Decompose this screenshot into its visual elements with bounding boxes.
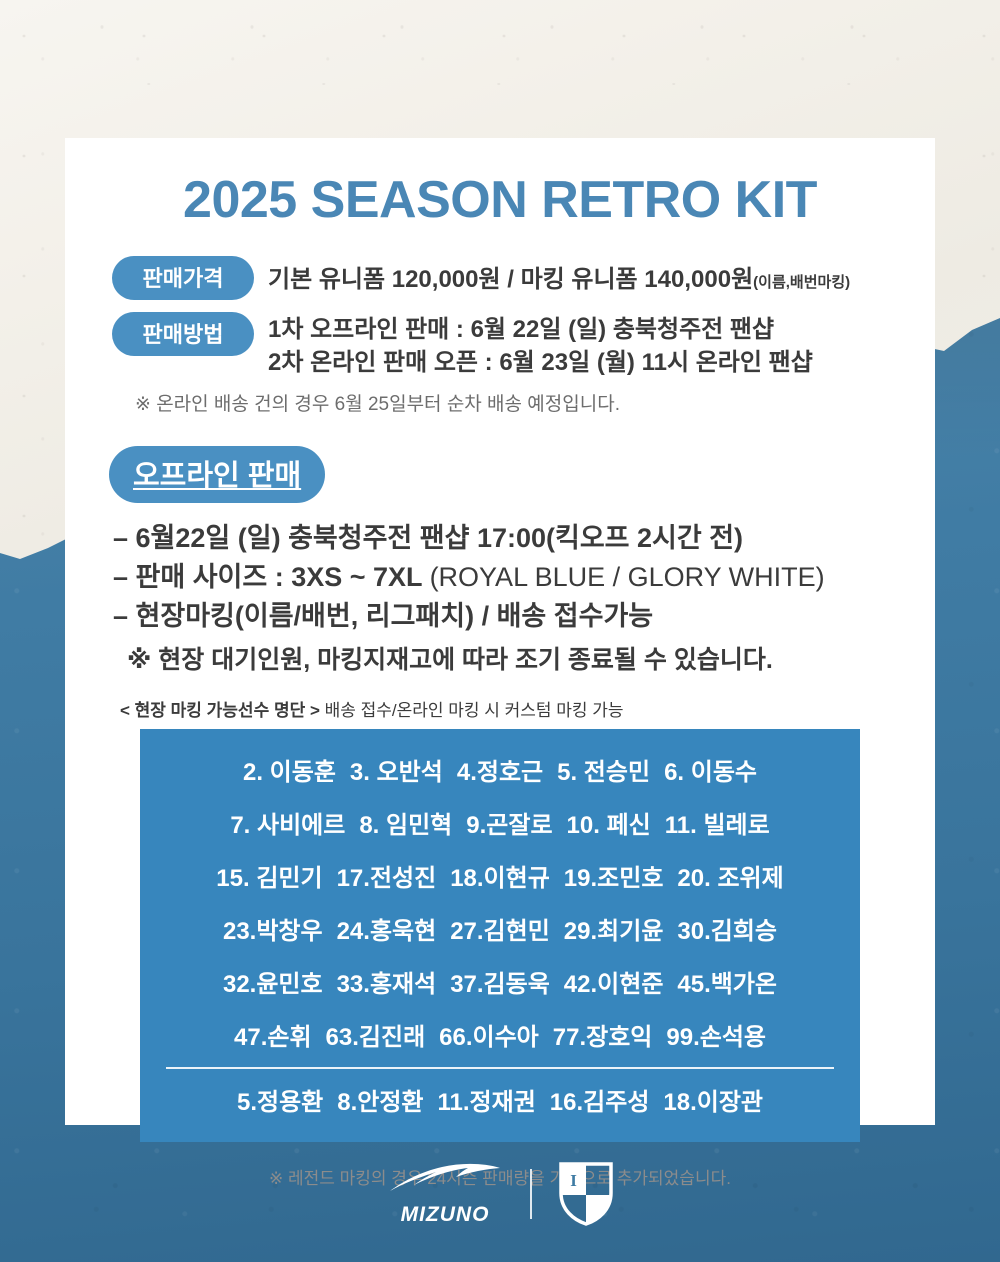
player-entry: 99.손석용 bbox=[666, 1017, 766, 1052]
player-entry: 18.이장관 bbox=[663, 1082, 763, 1117]
roster-row-squad: 47.손휘63.김진래66.이수아77.장호익99.손석용 bbox=[140, 1008, 860, 1061]
roster-box: 2. 이동훈3. 오반석4.정호근5. 전승민6. 이동수7. 사비에르8. 임… bbox=[140, 729, 860, 1142]
price-main: 기본 유니폼 120,000원 / 마킹 유니폼 140,000원 bbox=[268, 266, 753, 293]
player-entry: 11.정재권 bbox=[438, 1082, 536, 1117]
player-entry: 5. 전승민 bbox=[557, 752, 650, 787]
offline-item-3: – 현장마킹(이름/배번, 리그패치) / 배송 접수가능 bbox=[113, 597, 935, 636]
player-entry: 27.김현민 bbox=[450, 911, 550, 946]
method-lines: 1차 오프라인 판매 : 6월 22일 (일) 충북청주전 팬샵 2차 온라인 … bbox=[268, 312, 813, 379]
player-entry: 17.전성진 bbox=[337, 858, 437, 893]
player-entry: 42.이현준 bbox=[564, 964, 664, 999]
player-entry: 19.조민호 bbox=[564, 858, 664, 893]
roster-current-squad: 2. 이동훈3. 오반석4.정호근5. 전승민6. 이동수7. 사비에르8. 임… bbox=[140, 743, 860, 1061]
player-entry: 2. 이동훈 bbox=[243, 752, 336, 787]
offline-detail-list: – 6월22일 (일) 충북청주전 팬샵 17:00(킥오프 2시간 전) – … bbox=[113, 519, 935, 636]
price-suffix: (이름,배번마킹) bbox=[753, 274, 850, 291]
crest-letter: I bbox=[570, 1171, 577, 1190]
mizuno-wordmark: MIZUNO bbox=[401, 1203, 490, 1227]
player-entry: 3. 오반석 bbox=[350, 752, 443, 787]
roster-row-squad: 15. 김민기17.전성진18.이현규19.조민호20. 조위제 bbox=[140, 849, 860, 902]
offline-sales-badge-label: 오프라인 판매 bbox=[133, 452, 301, 494]
content-card: 2025 SEASON RETRO KIT 판매가격 기본 유니폼 120,00… bbox=[65, 138, 935, 1125]
roster-row-squad: 2. 이동훈3. 오반석4.정호근5. 전승민6. 이동수 bbox=[140, 743, 860, 796]
roster-legends: 5.정용환8.안정환11.정재권16.김주성18.이장관 bbox=[140, 1073, 860, 1126]
method-note: ※ 온라인 배송 건의 경우 6월 25일부터 순차 배송 예정입니다. bbox=[135, 389, 935, 416]
player-entry: 10. 페신 bbox=[567, 805, 651, 840]
player-entry: 32.윤민호 bbox=[223, 964, 323, 999]
mizuno-runbird-icon bbox=[386, 1160, 504, 1200]
offline-item-2-pre: – 판매 사이즈 : 3XS ~ 7XL bbox=[113, 562, 430, 592]
method-line-1: 1차 오프라인 판매 : 6월 22일 (일) 충북청주전 팬샵 bbox=[268, 313, 813, 346]
player-entry: 4.정호근 bbox=[457, 752, 543, 787]
roster-row-legend: 5.정용환8.안정환11.정재권16.김주성18.이장관 bbox=[140, 1073, 860, 1126]
roster-divider bbox=[166, 1067, 834, 1069]
roster-row-squad: 7. 사비에르8. 임민혁9.곤잘로10. 페신11. 빌레로 bbox=[140, 796, 860, 849]
player-entry: 18.이현규 bbox=[450, 858, 550, 893]
offline-item-2: – 판매 사이즈 : 3XS ~ 7XL (ROYAL BLUE / GLORY… bbox=[113, 558, 935, 597]
player-entry: 20. 조위제 bbox=[677, 858, 783, 893]
player-entry: 63.김진래 bbox=[326, 1017, 426, 1052]
player-entry: 8.안정환 bbox=[337, 1082, 423, 1117]
roster-caption-regular: 배송 접수/온라인 마킹 시 커스텀 마킹 가능 bbox=[325, 701, 624, 720]
mizuno-logo: MIZUNO bbox=[386, 1160, 504, 1227]
offline-note: ※ 현장 대기인원, 마킹지재고에 따라 조기 종료될 수 있습니다. bbox=[127, 640, 935, 676]
player-entry: 23.박창우 bbox=[223, 911, 323, 946]
player-entry: 15. 김민기 bbox=[216, 858, 322, 893]
page-title: 2025 SEASON RETRO KIT bbox=[65, 170, 935, 230]
player-entry: 29.최기윤 bbox=[564, 911, 664, 946]
offline-item-2-colors: (ROYAL BLUE / GLORY WHITE) bbox=[430, 562, 825, 592]
player-entry: 77.장호익 bbox=[553, 1017, 653, 1052]
offline-sales-badge: 오프라인 판매 bbox=[109, 446, 325, 503]
poster-root: 2025 SEASON RETRO KIT 판매가격 기본 유니폼 120,00… bbox=[0, 0, 1000, 1262]
player-entry: 5.정용환 bbox=[237, 1082, 323, 1117]
player-entry: 24.홍욱현 bbox=[337, 911, 437, 946]
player-entry: 66.이수아 bbox=[439, 1017, 539, 1052]
method-row: 판매방법 1차 오프라인 판매 : 6월 22일 (일) 충북청주전 팬샵 2차… bbox=[112, 312, 935, 379]
offline-item-1: – 6월22일 (일) 충북청주전 팬샵 17:00(킥오프 2시간 전) bbox=[113, 519, 935, 558]
player-entry: 9.곤잘로 bbox=[466, 805, 552, 840]
price-value: 기본 유니폼 120,000원 / 마킹 유니폼 140,000원(이름,배번마… bbox=[268, 256, 850, 294]
player-entry: 6. 이동수 bbox=[664, 752, 757, 787]
player-entry: 37.김동욱 bbox=[450, 964, 550, 999]
roster-row-squad: 32.윤민호33.홍재석37.김동욱42.이현준45.백가온 bbox=[140, 955, 860, 1008]
player-entry: 8. 임민혁 bbox=[359, 805, 452, 840]
player-entry: 7. 사비에르 bbox=[230, 805, 345, 840]
player-entry: 45.백가온 bbox=[677, 964, 777, 999]
player-entry: 11. 빌레로 bbox=[665, 805, 770, 840]
method-line-2: 2차 온라인 판매 오픈 : 6월 23일 (월) 11시 온라인 팬샵 bbox=[268, 346, 813, 379]
logo-separator bbox=[530, 1169, 532, 1219]
price-badge: 판매가격 bbox=[112, 256, 254, 300]
incheon-united-crest-icon: I bbox=[558, 1161, 614, 1227]
roster-caption-bold: < 현장 마킹 가능선수 명단 > bbox=[120, 701, 320, 720]
roster-row-squad: 23.박창우24.홍욱현27.김현민29.최기윤30.김희승 bbox=[140, 902, 860, 955]
player-entry: 30.김희승 bbox=[677, 911, 777, 946]
player-entry: 33.홍재석 bbox=[337, 964, 437, 999]
method-badge: 판매방법 bbox=[112, 312, 254, 356]
price-row: 판매가격 기본 유니폼 120,000원 / 마킹 유니폼 140,000원(이… bbox=[112, 256, 935, 300]
roster-caption: < 현장 마킹 가능선수 명단 > 배송 접수/온라인 마킹 시 커스텀 마킹 … bbox=[120, 696, 935, 721]
player-entry: 16.김주성 bbox=[550, 1082, 650, 1117]
player-entry: 47.손휘 bbox=[234, 1017, 312, 1052]
footer-logos: MIZUNO I bbox=[0, 1125, 1000, 1262]
offline-badge-wrap: 오프라인 판매 bbox=[109, 446, 935, 503]
